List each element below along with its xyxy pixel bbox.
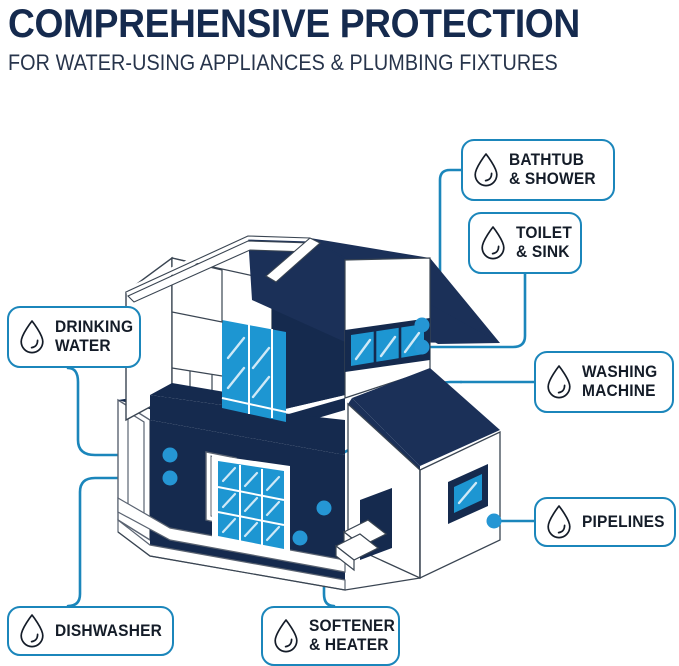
label-text: BATHTUB & SHOWER — [509, 151, 596, 189]
label-softener-heater[interactable]: SOFTENER & HEATER — [261, 606, 400, 666]
label-text: TOILET & SINK — [516, 224, 572, 262]
water-drop-icon — [546, 365, 572, 399]
dot-softener — [317, 501, 332, 516]
label-line: PIPELINES — [582, 513, 665, 532]
label-line: DISHWASHER — [55, 622, 162, 641]
label-line: WATER — [55, 337, 133, 356]
dot-toilet — [415, 340, 430, 355]
house-lower-left-wall-inner — [128, 412, 144, 514]
water-drop-icon — [480, 226, 506, 260]
water-drop-icon — [19, 614, 45, 648]
dot-dishwasher — [163, 471, 178, 486]
water-drop-icon — [19, 320, 45, 354]
label-line: BATHTUB — [509, 151, 596, 170]
water-drop-icon — [546, 505, 572, 539]
water-drop-icon — [273, 619, 299, 653]
label-text: PIPELINES — [582, 513, 665, 532]
label-line: MACHINE — [582, 382, 657, 401]
infographic-root: COMPREHENSIVE PROTECTION FOR WATER-USING… — [0, 0, 679, 666]
label-text: DRINKING WATER — [55, 318, 133, 356]
label-line: SOFTENER — [309, 617, 395, 636]
label-text: SOFTENER & HEATER — [309, 617, 395, 655]
label-line: & HEATER — [309, 636, 395, 655]
label-bathtub-shower[interactable]: BATHTUB & SHOWER — [461, 139, 615, 201]
label-drinking-water[interactable]: DRINKING WATER — [7, 306, 141, 368]
water-drop-icon — [473, 153, 499, 187]
house — [118, 236, 500, 590]
dot-drinking — [163, 448, 178, 463]
label-line: & SINK — [516, 243, 572, 262]
label-text: WASHING MACHINE — [582, 363, 657, 401]
label-text: DISHWASHER — [55, 622, 162, 641]
label-pipelines[interactable]: PIPELINES — [534, 497, 676, 547]
label-dishwasher[interactable]: DISHWASHER — [7, 606, 174, 656]
label-washing-machine[interactable]: WASHING MACHINE — [534, 351, 674, 413]
dot-washing — [293, 531, 308, 546]
label-line: & SHOWER — [509, 170, 596, 189]
dot-pipelines — [487, 514, 502, 529]
label-line: WASHING — [582, 363, 657, 382]
label-toilet-sink[interactable]: TOILET & SINK — [468, 212, 582, 274]
dot-bathtub — [415, 318, 430, 333]
label-line: DRINKING — [55, 318, 133, 337]
label-line: TOILET — [516, 224, 572, 243]
